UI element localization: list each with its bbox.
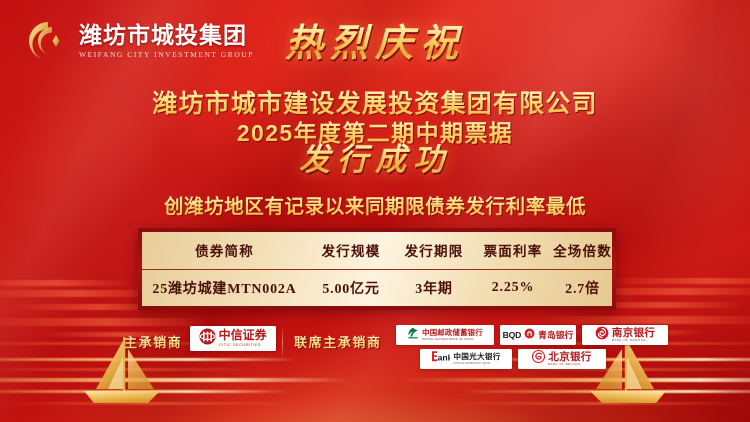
cell-bond-name: 25潍坊城建MTN002A (142, 278, 307, 298)
everbright-name-cn: 中国光大银行 (453, 353, 500, 361)
table-row: 25潍坊城建MTN002A 5.00亿元 3年期 2.25% 2.7倍 (142, 270, 612, 307)
nanjing-rose-icon (595, 326, 609, 345)
table-header-subscription-multiple: 全场倍数 (553, 240, 612, 260)
logo-postal-savings-bank: 中国邮政储蓄银行 POSTAL SAVINGS BANK OF CHINA (396, 325, 494, 345)
table-header-issue-size: 发行规模 (307, 240, 395, 260)
table-header-issue-term: 发行期限 (395, 240, 473, 260)
citic-circle-icon (199, 328, 216, 350)
beijing-ring-icon (532, 350, 545, 368)
svg-text:ank: ank (438, 352, 450, 362)
nanjing-name-cn: 南京银行 (612, 328, 655, 339)
table-header-row: 债券简称 发行规模 发行期限 票面利率 全场倍数 (142, 232, 612, 270)
logo-citic-securities: 中信证券 CITIC SECURITIES (190, 326, 276, 351)
cell-coupon-rate: 2.25% (473, 280, 553, 296)
table-header-bond-name: 债券简称 (142, 240, 307, 260)
label-lead-underwriter: 主承销商 (124, 332, 182, 351)
beijing-name-en: BANK OF BEIJING (548, 363, 585, 366)
citic-name-en: CITIC SECURITIES (219, 343, 261, 347)
label-joint-lead-underwriters: 联席主承销商 (294, 332, 382, 351)
underwriter-divider (282, 326, 283, 360)
psbc-name-cn: 中国邮政储蓄银行 (422, 329, 483, 336)
heading-celebrate: 热烈庆祝 (0, 22, 750, 66)
citic-name-cn: 中信证券 (219, 329, 268, 341)
cell-issue-size: 5.00亿元 (307, 278, 395, 298)
logo-bank-of-beijing: 北京银行 BANK OF BEIJING (518, 349, 606, 369)
everbright-name-en: CHINA EVERBRIGHT BANK (453, 362, 494, 365)
bqd-name-cn: 青岛银行 (538, 331, 573, 340)
heading-record-note: 创潍坊地区有记录以来同期限债券发行利率最低 (0, 190, 750, 219)
logo-bank-of-nanjing: 南京银行 BANK OF NANJING (582, 325, 668, 345)
underwriters-section: 主承销商 联席主承销商 中信证券 CITIC SECURITIES (0, 324, 750, 380)
logo-bank-of-qingdao: BQD 青岛银行 (500, 325, 576, 345)
bqd-dot-icon (524, 326, 535, 344)
nanjing-name-en: BANK OF NANJING (612, 339, 649, 342)
beijing-name-cn: 北京银行 (548, 352, 591, 363)
logo-china-everbright-bank: ank 中国光大银行 CHINA EVERBRIGHT BANK (420, 349, 512, 369)
heading-issuance-success: 发行成功 (0, 142, 750, 178)
psbc-leaf-icon (407, 326, 419, 344)
psbc-name-en: POSTAL SAVINGS BANK OF CHINA (422, 338, 474, 341)
cell-subscription-multiple: 2.7倍 (553, 278, 612, 298)
table-header-coupon-rate: 票面利率 (473, 240, 553, 260)
bqd-name-en: BQD (503, 331, 522, 340)
everbright-e-icon: ank (431, 350, 450, 368)
cell-issue-term: 3年期 (395, 278, 473, 298)
bond-details-table: 债券简称 发行规模 发行期限 票面利率 全场倍数 25潍坊城建MTN002A 5… (138, 228, 616, 310)
celebration-banner: 潍坊市城投集团 WEIFANG CITY INVESTMENT GROUP 热烈… (0, 0, 750, 422)
